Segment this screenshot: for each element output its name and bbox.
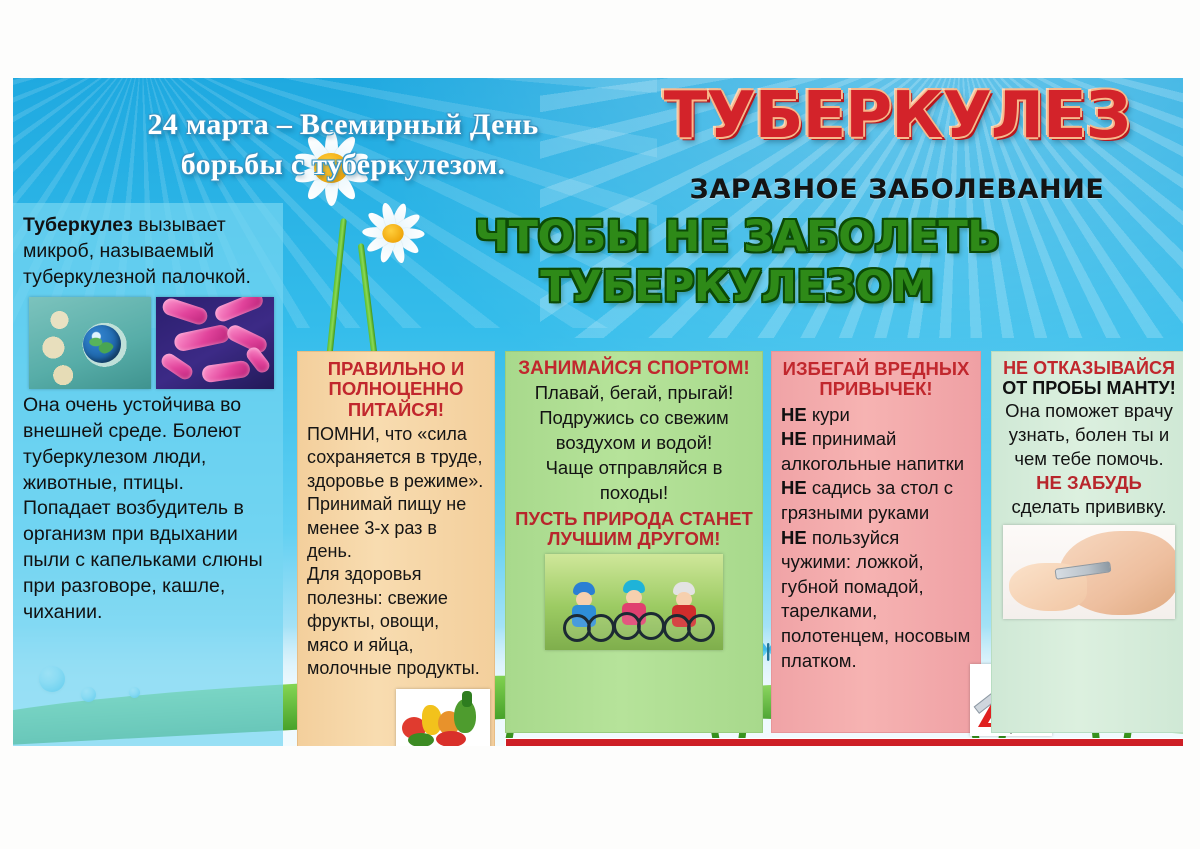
nutrition-body-2: Принимай пищу не менее 3-х раз в день. xyxy=(307,493,485,563)
fruit-shape xyxy=(462,691,472,707)
tb-colony-culture-photo xyxy=(29,297,151,389)
mantu-panel-title-red: НЕ ОТКАЗЫВАЙСЯ xyxy=(1000,359,1178,379)
mantu-panel-title-dark: ОТ ПРОБЫ МАНТУ! xyxy=(1000,379,1178,399)
sport-line-3: Чаще отправляйся в походы! xyxy=(514,456,754,506)
habits-item-no: НЕ xyxy=(781,428,807,449)
nutrition-body-3-text: Для здоровья полезны: свежие фрукты, ово… xyxy=(307,564,480,678)
left-paragraph-1: Туберкулез вызывает микроб, называемый т… xyxy=(23,213,275,291)
habits-item-no: НЕ xyxy=(781,477,807,498)
vaccination-injection-photo xyxy=(1003,525,1175,619)
habits-item: НЕ принимай алкогольные напитки xyxy=(781,427,971,476)
children-on-bicycles-photo xyxy=(545,554,723,650)
habits-item: НЕ пользуйся чужими: ложкой, губной пома… xyxy=(781,526,971,674)
habits-item-text: кури xyxy=(807,404,850,425)
fruit-shape xyxy=(436,731,466,746)
habits-item-no: НЕ xyxy=(781,527,807,548)
scanned-page: 24 марта – Всемирный День борьбы с тубер… xyxy=(0,0,1200,849)
tuberculosis-awareness-poster: 24 марта – Всемирный День борьбы с тубер… xyxy=(13,78,1183,746)
bacterium-rod xyxy=(159,351,196,382)
nutrition-body-1: ПОМНИ, что «сила сохраняется в труде, зд… xyxy=(307,423,485,493)
mantu-body-2: сделать прививку. xyxy=(1000,495,1178,519)
habits-item: НЕ кури xyxy=(781,403,971,428)
habits-item: НЕ садись за стол с грязными руками xyxy=(781,476,971,525)
tb-info-panel: Туберкулез вызывает микроб, называемый т… xyxy=(13,203,283,746)
bacterium-rod xyxy=(213,297,265,324)
sport-panel-accent: ПУСТЬ ПРИРОДА СТАНЕТ ЛУЧШИМ ДРУГОМ! xyxy=(514,509,754,550)
page-title: ТУБЕРКУЛЕЗ xyxy=(617,86,1177,147)
child-cyclist xyxy=(569,582,599,640)
left-paragraph-3: Попадает возбудитель в организм при вдых… xyxy=(23,496,275,626)
mantu-body: Она поможет врачу узнать, болен ты и чем… xyxy=(1000,399,1178,471)
child-cyclist xyxy=(669,582,699,640)
bad-habits-panel: ИЗБЕГАЙ ВРЕДНЫХ ПРИВЫЧЕК! НЕ кури НЕ при… xyxy=(771,351,981,733)
bicycle-wheel xyxy=(637,612,665,640)
left-paragraph-2: Она очень устойчива во внешней среде. Бо… xyxy=(23,393,275,497)
sport-advice-panel: ЗАНИМАЙСЯ СПОРТОМ! Плавай, бегай, прыгай… xyxy=(505,351,763,733)
sport-line-2: Подружись со свежим воздухом и водой! xyxy=(514,406,754,456)
bacterium-rod xyxy=(201,360,251,384)
poster-subtitle: ЗАРАЗНОЕ ЗАБОЛЕВАНИЕ xyxy=(619,174,1175,205)
habits-item-text: садись за стол с грязными руками xyxy=(781,477,953,523)
day-title-line-1: 24 марта – Всемирный День xyxy=(148,108,539,141)
bacterium-rod xyxy=(173,323,232,352)
sport-line-1: Плавай, бегай, прыгай! xyxy=(514,381,754,406)
mantu-panel-accent: НЕ ЗАБУДЬ xyxy=(1000,471,1178,495)
bicycle-wheel xyxy=(587,614,615,642)
child-cyclist xyxy=(619,580,649,638)
habits-item-text: пользуйся чужими: ложкой, губной помадой… xyxy=(781,527,970,671)
left-paragraph-1-bold: Туберкулез xyxy=(23,214,133,236)
world-tb-day-title: 24 марта – Всемирный День борьбы с тубер… xyxy=(83,106,603,183)
globe-graphic xyxy=(83,325,121,363)
fruits-and-vegetables-photo xyxy=(396,689,490,746)
bicycle-wheel xyxy=(687,614,715,642)
habits-item-no: НЕ xyxy=(781,404,807,425)
remember-banner: ПОМНИ! Чтобы своевременно выявить туберк… xyxy=(505,738,1183,746)
nutrition-body-3: Для здоровья полезны: свежие фрукты, ово… xyxy=(307,563,485,680)
habits-item-text: принимай алкогольные напитки xyxy=(781,428,964,474)
nutrition-advice-panel: ПРАВИЛЬНО И ПОЛНОЦЕННО ПИТАЙСЯ! ПОМНИ, ч… xyxy=(297,351,495,746)
tb-bacteria-microscope-photo xyxy=(156,297,274,389)
remember-line-1: ПОМНИ! Чтобы своевременно выявить туберк… xyxy=(520,742,1176,746)
habits-panel-title: ИЗБЕГАЙ ВРЕДНЫХ ПРИВЫЧЕК! xyxy=(781,359,971,400)
day-title-line-2: борьбы с туберкулезом. xyxy=(83,146,603,184)
nutrition-panel-title: ПРАВИЛЬНО И ПОЛНОЦЕННО ПИТАЙСЯ! xyxy=(307,359,485,420)
bacterium-rod xyxy=(160,297,209,327)
sport-panel-title: ЗАНИМАЙСЯ СПОРТОМ! xyxy=(514,359,754,380)
fruit-shape xyxy=(408,733,434,746)
mantoux-test-panel: НЕ ОТКАЗЫВАЙСЯ ОТ ПРОБЫ МАНТУ! Она помож… xyxy=(991,351,1183,733)
prevention-banner: ЧТОБЫ НЕ ЗАБОЛЕТЬ ТУБЕРКУЛЕЗОМ xyxy=(287,212,1183,312)
tb-photo-row xyxy=(29,297,275,389)
